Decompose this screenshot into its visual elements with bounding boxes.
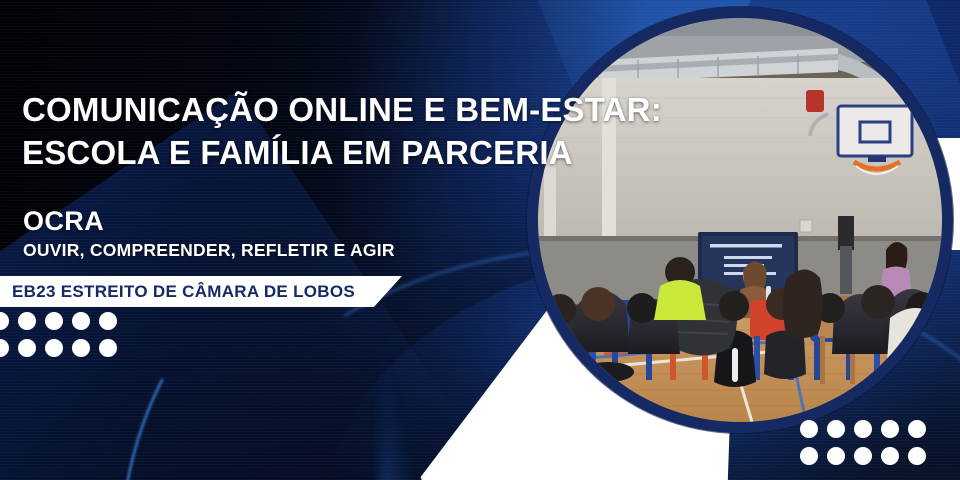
- dot-grid-left: [0, 312, 117, 357]
- dot: [908, 447, 926, 465]
- dot: [881, 447, 899, 465]
- dot: [45, 339, 63, 357]
- dot-grid-right: [800, 420, 926, 465]
- event-banner: COMUNICAÇÃO ONLINE E BEM-ESTAR: ESCOLA E…: [0, 0, 960, 480]
- dot: [72, 312, 90, 330]
- program-expansion: OUVIR, COMPREENDER, REFLETIR E AGIR: [23, 240, 395, 261]
- dot: [99, 339, 117, 357]
- dot: [881, 420, 899, 438]
- dot: [18, 312, 36, 330]
- dot: [45, 312, 63, 330]
- dot: [854, 447, 872, 465]
- school-name: EB23 ESTREITO DE CÂMARA DE LOBOS: [12, 282, 355, 302]
- dot: [0, 339, 9, 357]
- event-photo: [538, 18, 942, 422]
- dot: [827, 420, 845, 438]
- dot: [800, 447, 818, 465]
- dot: [72, 339, 90, 357]
- dot: [827, 447, 845, 465]
- title-line-1: COMUNICAÇÃO ONLINE E BEM-ESTAR:: [22, 88, 662, 131]
- dot: [18, 339, 36, 357]
- program-acronym: OCRA: [23, 206, 104, 236]
- dot: [908, 420, 926, 438]
- dot: [800, 420, 818, 438]
- dot: [0, 312, 9, 330]
- title-line-2: ESCOLA E FAMÍLIA EM PARCERIA: [22, 131, 662, 174]
- dot: [99, 312, 117, 330]
- dot: [854, 420, 872, 438]
- page-title: COMUNICAÇÃO ONLINE E BEM-ESTAR: ESCOLA E…: [22, 88, 662, 174]
